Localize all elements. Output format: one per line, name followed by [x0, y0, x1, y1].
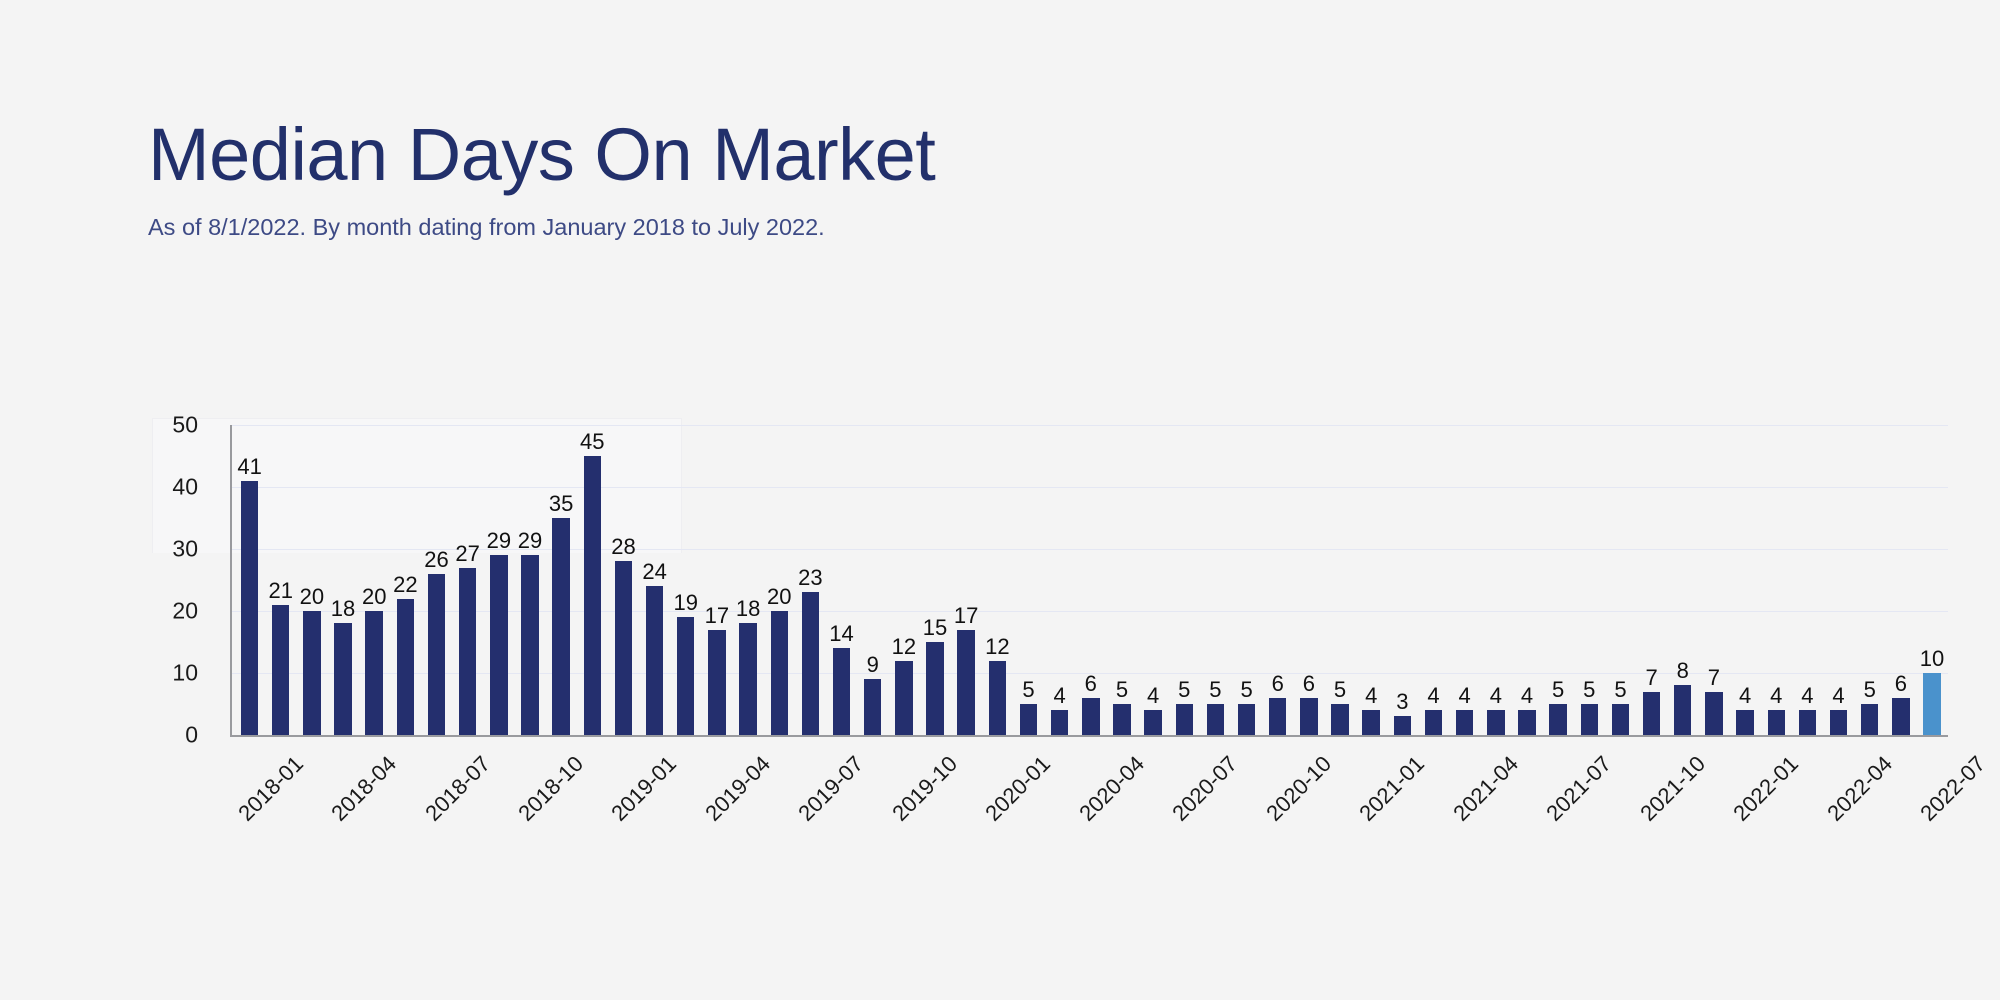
x-axis-slot: [577, 743, 608, 883]
bar-slot: 29: [514, 425, 545, 735]
bar[interactable]: 4: [1768, 710, 1785, 735]
x-axis-slot: [390, 743, 421, 883]
bar-slot: 6: [1293, 425, 1324, 735]
bar[interactable]: 5: [1861, 704, 1878, 735]
bar-series: 4121201820222627292935452824191718202314…: [230, 425, 1948, 735]
bar[interactable]: 29: [490, 555, 507, 735]
bar-slot: 23: [795, 425, 826, 735]
x-axis-slot: [1324, 743, 1355, 883]
bar[interactable]: 35: [552, 518, 569, 735]
bar-slot: 4: [1138, 425, 1169, 735]
x-axis-slot: [1885, 743, 1916, 883]
bar-value-label: 20: [767, 586, 791, 608]
bar-slot: 7: [1636, 425, 1667, 735]
bar-slot: 35: [546, 425, 577, 735]
x-axis-slot: 2019-07: [795, 743, 826, 883]
bar-slot: 6: [1262, 425, 1293, 735]
bar[interactable]: 6: [1269, 698, 1286, 735]
x-axis: 2018-012018-042018-072018-102019-012019-…: [230, 743, 1948, 883]
x-axis-tick-label: 2022-07: [1915, 751, 1990, 826]
y-axis-tick-label: 50: [172, 412, 198, 439]
x-axis-slot: [1605, 743, 1636, 883]
bar-slot: 5: [1200, 425, 1231, 735]
bar-slot: 10: [1916, 425, 1947, 735]
bar-value-label: 21: [268, 580, 292, 602]
bar-slot: 6: [1075, 425, 1106, 735]
x-axis-slot: [265, 743, 296, 883]
bar[interactable]: 27: [459, 568, 476, 735]
bar[interactable]: 17: [708, 630, 725, 735]
bar-value-label: 27: [455, 543, 479, 565]
bar[interactable]: 12: [989, 661, 1006, 735]
bar-value-label: 14: [829, 623, 853, 645]
x-axis-slot: [919, 743, 950, 883]
bar-value-label: 41: [237, 456, 261, 478]
bar[interactable]: 14: [833, 648, 850, 735]
bar-slot: 6: [1885, 425, 1916, 735]
bar-slot: 5: [1231, 425, 1262, 735]
bar-slot: 21: [265, 425, 296, 735]
x-axis-slot: 2022-01: [1730, 743, 1761, 883]
y-axis-tick-label: 20: [172, 598, 198, 625]
bar-slot: 12: [982, 425, 1013, 735]
bar[interactable]: 20: [365, 611, 382, 735]
bar-slot: 5: [1324, 425, 1355, 735]
x-axis-slot: [1138, 743, 1169, 883]
bar-value-label: 7: [1645, 667, 1657, 689]
x-axis-slot: 2018-07: [421, 743, 452, 883]
bar-value-label: 4: [1490, 685, 1502, 707]
bar-slot: 7: [1698, 425, 1729, 735]
x-axis-slot: 2021-04: [1449, 743, 1480, 883]
bar[interactable]: 3: [1394, 716, 1411, 735]
x-axis-slot: 2021-07: [1543, 743, 1574, 883]
bar-value-label: 18: [331, 598, 355, 620]
bar-slot: 4: [1761, 425, 1792, 735]
bar[interactable]: 4: [1456, 710, 1473, 735]
bar-slot: 4: [1730, 425, 1761, 735]
x-axis-slot: [1480, 743, 1511, 883]
bar-slot: 4: [1511, 425, 1542, 735]
bar-value-label: 17: [954, 605, 978, 627]
bar-slot: 41: [234, 425, 265, 735]
x-axis-slot: [1761, 743, 1792, 883]
x-axis-slot: [1667, 743, 1698, 883]
bar-slot: 4: [1418, 425, 1449, 735]
bar[interactable]: 15: [926, 642, 943, 735]
bar[interactable]: 41: [241, 481, 258, 735]
bar-slot: 18: [327, 425, 358, 735]
bar-value-label: 10: [1920, 648, 1944, 670]
bar[interactable]: 19: [677, 617, 694, 735]
x-axis-slot: [359, 743, 390, 883]
bar-slot: 5: [1106, 425, 1137, 735]
x-axis-slot: 2018-01: [234, 743, 265, 883]
x-axis-slot: [1698, 743, 1729, 883]
plot-area: 4121201820222627292935452824191718202314…: [230, 425, 1948, 735]
x-axis-slot: [483, 743, 514, 883]
x-axis-slot: [857, 743, 888, 883]
bar-value-label: 6: [1303, 673, 1315, 695]
bar-value-label: 5: [1614, 679, 1626, 701]
x-axis-slot: [1044, 743, 1075, 883]
bar-value-label: 5: [1334, 679, 1346, 701]
bar-value-label: 20: [300, 586, 324, 608]
bar[interactable]: 29: [521, 555, 538, 735]
x-axis-line: [230, 735, 1948, 737]
bar-slot: 17: [951, 425, 982, 735]
bar-slot: 17: [701, 425, 732, 735]
chart-subtitle: As of 8/1/2022. By month dating from Jan…: [148, 214, 935, 241]
bar-value-label: 17: [705, 605, 729, 627]
bar-slot: 18: [733, 425, 764, 735]
bar[interactable]: 4: [1799, 710, 1816, 735]
x-axis-slot: [1511, 743, 1542, 883]
bar-slot: 4: [1480, 425, 1511, 735]
x-axis-slot: [296, 743, 327, 883]
bar[interactable]: 12: [895, 661, 912, 735]
bar-value-label: 19: [674, 592, 698, 614]
bar-slot: 20: [296, 425, 327, 735]
bar-value-label: 5: [1022, 679, 1034, 701]
x-axis-slot: 2021-01: [1356, 743, 1387, 883]
bar-slot: 22: [390, 425, 421, 735]
bar[interactable]: 28: [615, 561, 632, 735]
x-axis-slot: [639, 743, 670, 883]
bar[interactable]: 45: [584, 456, 601, 735]
y-axis: 01020304050: [148, 425, 206, 735]
bar[interactable]: 4: [1736, 710, 1753, 735]
page-title: Median Days On Market: [148, 118, 935, 192]
x-axis-slot: 2020-01: [982, 743, 1013, 883]
bar-value-label: 24: [642, 561, 666, 583]
bar-value-label: 4: [1427, 685, 1439, 707]
bar-value-label: 6: [1272, 673, 1284, 695]
x-axis-slot: [1854, 743, 1885, 883]
bar-value-label: 5: [1864, 679, 1876, 701]
chart-header: Median Days On Market As of 8/1/2022. By…: [148, 118, 935, 241]
bar-value-label: 6: [1085, 673, 1097, 695]
x-axis-slot: [1231, 743, 1262, 883]
x-axis-slot: 2021-10: [1636, 743, 1667, 883]
bar-slot: 20: [764, 425, 795, 735]
x-axis-slot: 2020-10: [1262, 743, 1293, 883]
bar-slot: 4: [1356, 425, 1387, 735]
bar[interactable]: 7: [1643, 692, 1660, 735]
y-axis-tick-label: 40: [172, 474, 198, 501]
bar[interactable]: 18: [739, 623, 756, 735]
bar-slot: 12: [888, 425, 919, 735]
bar-slot: 5: [1574, 425, 1605, 735]
bar-slot: 5: [1013, 425, 1044, 735]
bar-slot: 5: [1854, 425, 1885, 735]
bar[interactable]: 6: [1082, 698, 1099, 735]
bar-chart: 01020304050 4121201820222627292935452824…: [148, 425, 1948, 735]
bar-value-label: 4: [1147, 685, 1159, 707]
bar[interactable]: 4: [1051, 710, 1068, 735]
bar-slot: 4: [1823, 425, 1854, 735]
x-axis-slot: [733, 743, 764, 883]
bar[interactable]: 24: [646, 586, 663, 735]
bar-value-label: 5: [1178, 679, 1190, 701]
x-axis-slot: [1200, 743, 1231, 883]
y-axis-tick-label: 10: [172, 660, 198, 687]
bar[interactable]: 20: [771, 611, 788, 735]
bar-value-label: 12: [985, 636, 1009, 658]
x-axis-slot: [1106, 743, 1137, 883]
bar-value-label: 5: [1552, 679, 1564, 701]
bar-value-label: 4: [1739, 685, 1751, 707]
chart-page: Median Days On Market As of 8/1/2022. By…: [0, 0, 2000, 1000]
bar[interactable]: 4: [1144, 710, 1161, 735]
bar[interactable]: 4: [1425, 710, 1442, 735]
x-axis-slot: [1792, 743, 1823, 883]
bar-value-label: 18: [736, 598, 760, 620]
bar[interactable]: 9: [864, 679, 881, 735]
bar-slot: 29: [483, 425, 514, 735]
bar[interactable]: 5: [1612, 704, 1629, 735]
y-axis-tick-label: 0: [185, 722, 198, 749]
bar[interactable]: 8: [1674, 685, 1691, 735]
bar-slot: 28: [608, 425, 639, 735]
bar-value-label: 28: [611, 536, 635, 558]
bar-value-label: 4: [1365, 685, 1377, 707]
bar-value-label: 29: [487, 530, 511, 552]
x-axis-slot: 2018-10: [514, 743, 545, 883]
x-axis-slot: [826, 743, 857, 883]
bar-value-label: 4: [1459, 685, 1471, 707]
bar-value-label: 3: [1396, 691, 1408, 713]
bar[interactable]: 4: [1362, 710, 1379, 735]
x-axis-slot: [1418, 743, 1449, 883]
x-axis-slot: 2019-01: [608, 743, 639, 883]
bar-slot: 5: [1543, 425, 1574, 735]
bar[interactable]: 4: [1518, 710, 1535, 735]
x-axis-slot: 2020-04: [1075, 743, 1106, 883]
bar-slot: 4: [1044, 425, 1075, 735]
bar[interactable]: 5: [1238, 704, 1255, 735]
bar[interactable]: 5: [1176, 704, 1193, 735]
bar-slot: 8: [1667, 425, 1698, 735]
bar-value-label: 5: [1209, 679, 1221, 701]
x-axis-slot: [1293, 743, 1324, 883]
bar-value-label: 5: [1116, 679, 1128, 701]
bar-value-label: 8: [1677, 660, 1689, 682]
bar-value-label: 5: [1240, 679, 1252, 701]
bar-value-label: 45: [580, 431, 604, 453]
bar[interactable]: 5: [1113, 704, 1130, 735]
bar-slot: 19: [670, 425, 701, 735]
bar-value-label: 9: [867, 654, 879, 676]
bar-slot: 9: [857, 425, 888, 735]
bar[interactable]: 4: [1830, 710, 1847, 735]
bar[interactable]: 18: [334, 623, 351, 735]
bar-slot: 45: [577, 425, 608, 735]
y-axis-tick-label: 30: [172, 536, 198, 563]
bar-value-label: 26: [424, 549, 448, 571]
x-axis-slot: [452, 743, 483, 883]
bar[interactable]: 4: [1487, 710, 1504, 735]
bar-value-label: 4: [1801, 685, 1813, 707]
bar[interactable]: 5: [1331, 704, 1348, 735]
bar-value-label: 5: [1583, 679, 1595, 701]
x-axis-slot: [670, 743, 701, 883]
x-axis-slot: [1387, 743, 1418, 883]
bar[interactable]: 5: [1549, 704, 1566, 735]
bar-slot: 27: [452, 425, 483, 735]
bar[interactable]: 26: [428, 574, 445, 735]
x-axis-slot: 2022-04: [1823, 743, 1854, 883]
bar-slot: 24: [639, 425, 670, 735]
bar[interactable]: 5: [1581, 704, 1598, 735]
x-axis-slot: [951, 743, 982, 883]
bar-value-label: 15: [923, 617, 947, 639]
bar-slot: 26: [421, 425, 452, 735]
bar[interactable]: 20: [303, 611, 320, 735]
bar-value-label: 4: [1832, 685, 1844, 707]
x-axis-slot: [546, 743, 577, 883]
bar-value-label: 22: [393, 574, 417, 596]
bar[interactable]: 21: [272, 605, 289, 735]
x-axis-slot: 2020-07: [1169, 743, 1200, 883]
bar-slot: 15: [919, 425, 950, 735]
bar-slot: 5: [1605, 425, 1636, 735]
bar-slot: 4: [1449, 425, 1480, 735]
bar[interactable]: 5: [1207, 704, 1224, 735]
bar-value-label: 20: [362, 586, 386, 608]
bar-value-label: 4: [1054, 685, 1066, 707]
bar-value-label: 4: [1521, 685, 1533, 707]
x-axis-slot: [1013, 743, 1044, 883]
x-axis-slot: 2022-07: [1916, 743, 1947, 883]
bar-slot: 20: [359, 425, 390, 735]
bar-value-label: 35: [549, 493, 573, 515]
bar[interactable]: 7: [1705, 692, 1722, 735]
bar-slot: 5: [1169, 425, 1200, 735]
x-axis-slot: [1574, 743, 1605, 883]
bar-value-label: 12: [892, 636, 916, 658]
bar-value-label: 29: [518, 530, 542, 552]
x-axis-slot: 2018-04: [327, 743, 358, 883]
x-axis-slot: 2019-10: [888, 743, 919, 883]
bar[interactable]: 17: [957, 630, 974, 735]
bar[interactable]: 6: [1892, 698, 1909, 735]
bar-slot: 14: [826, 425, 857, 735]
x-axis-slot: [764, 743, 795, 883]
x-axis-slot: 2019-04: [701, 743, 732, 883]
bar-value-label: 23: [798, 567, 822, 589]
bar-value-label: 6: [1895, 673, 1907, 695]
bar-slot: 4: [1792, 425, 1823, 735]
bar[interactable]: 23: [802, 592, 819, 735]
bar[interactable]: 10: [1923, 673, 1940, 735]
bar[interactable]: 6: [1300, 698, 1317, 735]
bar[interactable]: 5: [1020, 704, 1037, 735]
bar-value-label: 7: [1708, 667, 1720, 689]
bar-value-label: 4: [1770, 685, 1782, 707]
bar-slot: 3: [1387, 425, 1418, 735]
bar[interactable]: 22: [397, 599, 414, 735]
